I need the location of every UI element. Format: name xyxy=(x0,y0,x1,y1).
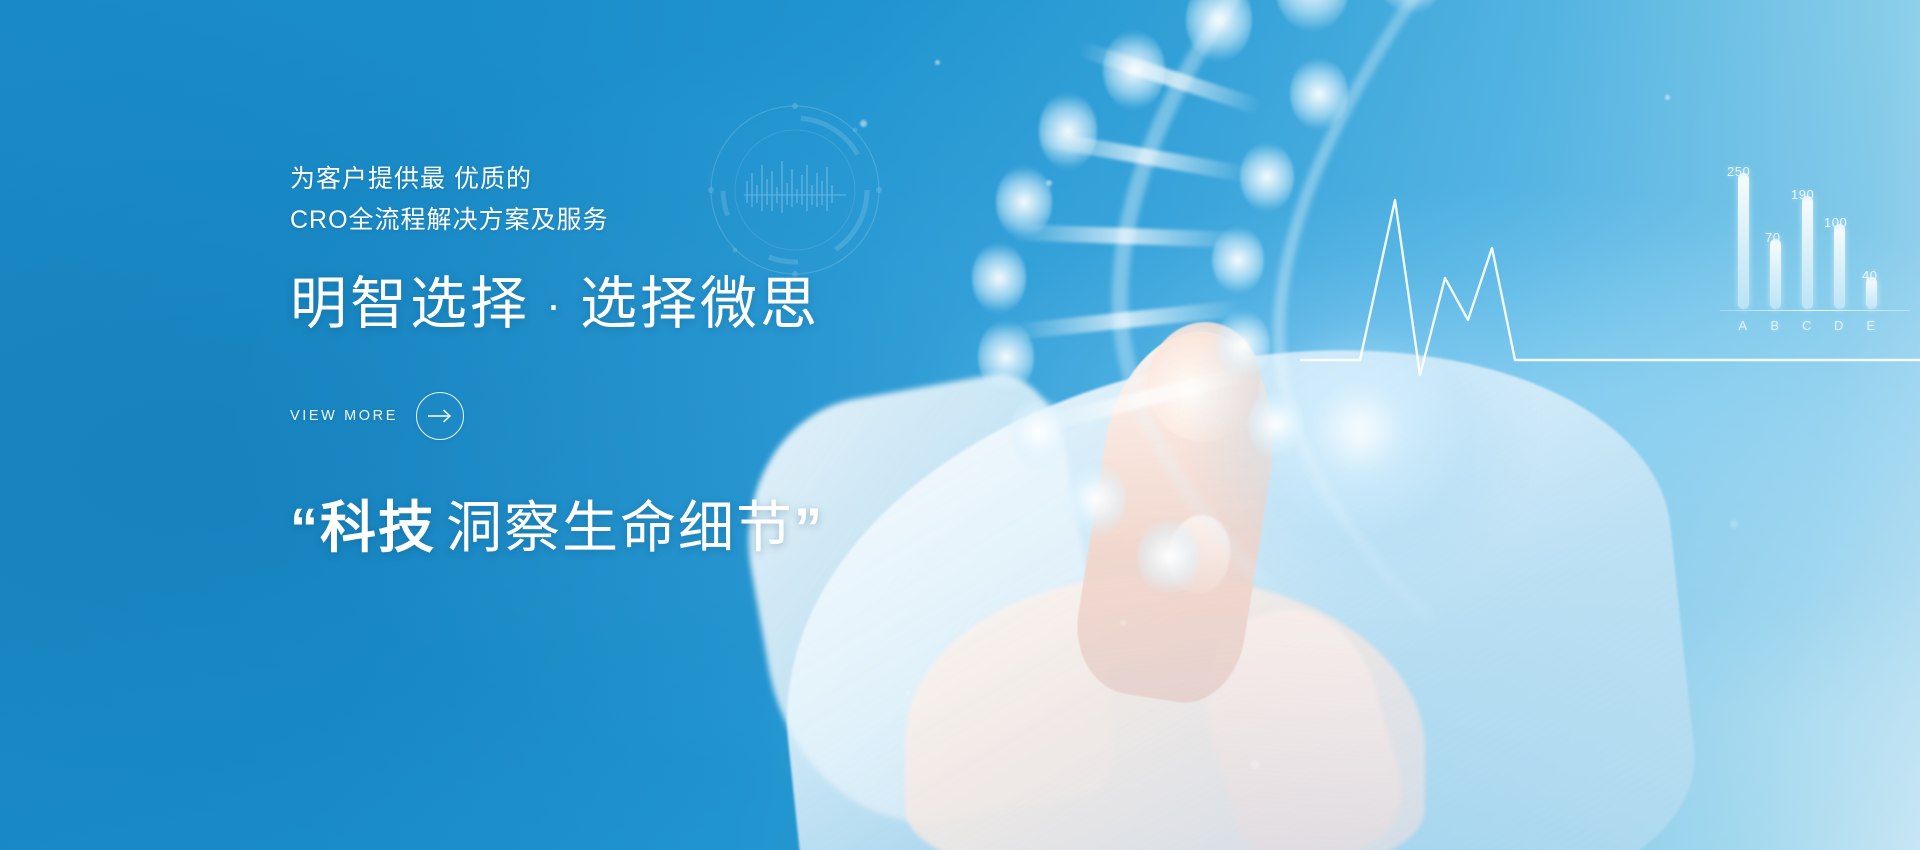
chart-baseline xyxy=(1720,310,1910,312)
hero-banner: 250 70 190 100 40 A B C D E 为客户提供最 优质的 C… xyxy=(0,0,1920,850)
chart-bar-b xyxy=(1770,239,1781,309)
bokeh-dot xyxy=(1665,95,1670,100)
arrow-right-icon[interactable] xyxy=(416,392,464,440)
bokeh-dot xyxy=(905,690,911,696)
bokeh-dot xyxy=(935,60,940,65)
bokeh-dot xyxy=(860,120,867,127)
chart-bar-c xyxy=(1802,196,1813,309)
chart-value-a: 250 xyxy=(1727,164,1750,179)
chart-category-a: A xyxy=(1733,318,1753,333)
quote-open-mark: “ xyxy=(290,496,320,559)
subtitle-line-1: 为客户提供最 优质的 xyxy=(290,160,1110,199)
page-title: 明智选择·选择微思 xyxy=(290,270,1110,340)
headline-separator: · xyxy=(530,279,580,330)
quote-light-text: 洞察生命细节 xyxy=(436,496,794,559)
chart-value-c: 190 xyxy=(1791,187,1814,202)
chart-value-b: 70 xyxy=(1765,230,1780,245)
headline-right: 选择微思 xyxy=(580,272,820,336)
bar-chart: 250 70 190 100 40 A B C D E xyxy=(1720,150,1910,335)
bokeh-dot xyxy=(1250,760,1259,769)
chart-category-b: B xyxy=(1765,318,1785,333)
chart-category-d: D xyxy=(1829,318,1849,333)
subtitle-line-2: CRO全流程解决方案及服务 xyxy=(290,201,1110,240)
chart-bar-d xyxy=(1834,224,1845,309)
chart-category-c: C xyxy=(1797,318,1817,333)
bokeh-dot xyxy=(1120,620,1126,626)
bokeh-dot xyxy=(1730,520,1738,528)
chart-value-d: 100 xyxy=(1824,215,1847,230)
view-more-label: VIEW MORE xyxy=(290,408,398,424)
view-more-button[interactable]: VIEW MORE xyxy=(290,392,464,440)
chart-value-e: 40 xyxy=(1862,268,1877,283)
hero-content: 为客户提供最 优质的 CRO全流程解决方案及服务 明智选择·选择微思 VIEW … xyxy=(290,160,1110,561)
quote-strong-text: 科技 xyxy=(320,496,436,559)
chart-category-e: E xyxy=(1861,318,1881,333)
quote-close-mark: ” xyxy=(794,496,824,559)
tagline-quote: “科技洞察生命细节” xyxy=(290,494,1110,561)
headline-left: 明智选择 xyxy=(290,272,530,336)
chart-bar-a xyxy=(1738,173,1749,309)
